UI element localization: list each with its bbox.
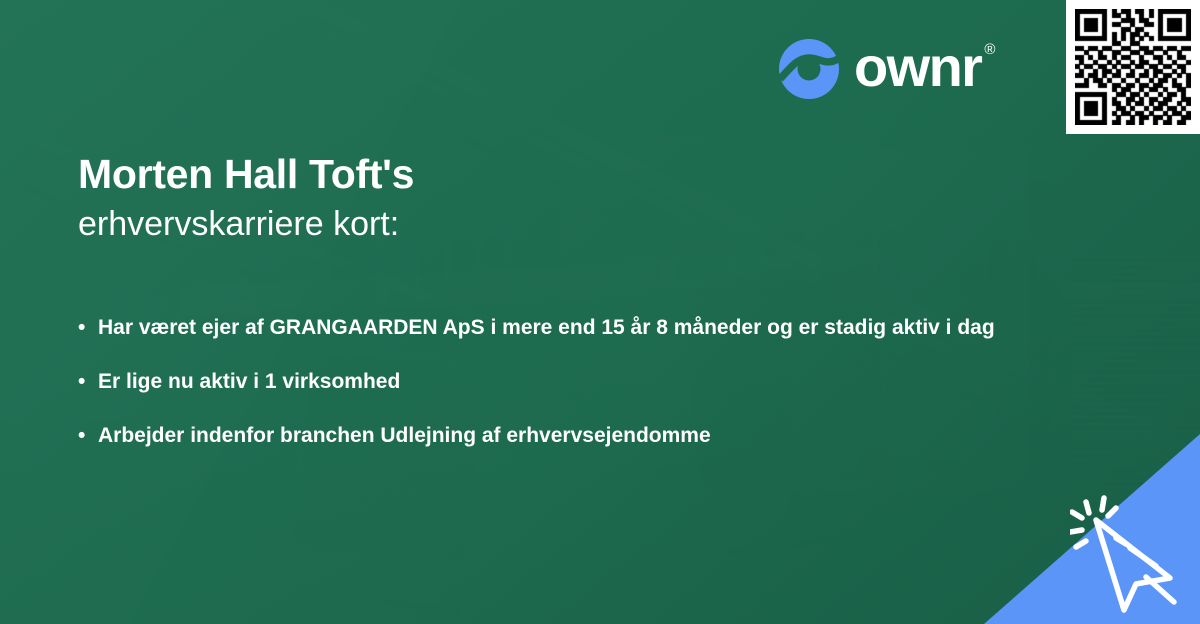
list-item: •Har været ejer af GRANGAARDEN ApS i mer…: [78, 312, 998, 344]
registered-trademark-symbol: ®: [984, 42, 995, 57]
page-title: Morten Hall Toft's erhvervskarriere kort…: [78, 150, 414, 247]
qr-code-canvas: [1075, 9, 1191, 125]
business-career-card: ownr ® Morten Hall Toft's erhvervskarrie…: [0, 0, 1200, 624]
list-item: •Arbejder indenfor branchen Udlejning af…: [78, 420, 998, 452]
title-person-name: Morten Hall Toft's: [78, 150, 414, 198]
ownr-wordmark: ownr: [854, 39, 981, 95]
title-subtitle: erhvervskarriere kort:: [78, 202, 414, 246]
qr-code[interactable]: [1066, 0, 1200, 134]
ownr-logo[interactable]: ownr ®: [778, 36, 995, 102]
bullet-point-icon: •: [78, 366, 98, 398]
ownr-circle-swoosh-icon: [778, 38, 840, 100]
list-item-label: Har været ejer af GRANGAARDEN ApS i mere…: [98, 312, 998, 344]
list-item: •Er lige nu aktiv i 1 virksomhed: [78, 366, 998, 398]
card-content: ownr ® Morten Hall Toft's erhvervskarrie…: [0, 0, 1200, 624]
list-item-label: Er lige nu aktiv i 1 virksomhed: [98, 366, 998, 398]
list-item-label: Arbejder indenfor branchen Udlejning af …: [98, 420, 998, 452]
blue-corner-triangle: [984, 434, 1200, 624]
career-fact-list: •Har været ejer af GRANGAARDEN ApS i mer…: [78, 312, 998, 474]
click-cursor-icon: [1070, 494, 1190, 614]
bullet-point-icon: •: [78, 312, 98, 344]
bullet-point-icon: •: [78, 420, 98, 452]
